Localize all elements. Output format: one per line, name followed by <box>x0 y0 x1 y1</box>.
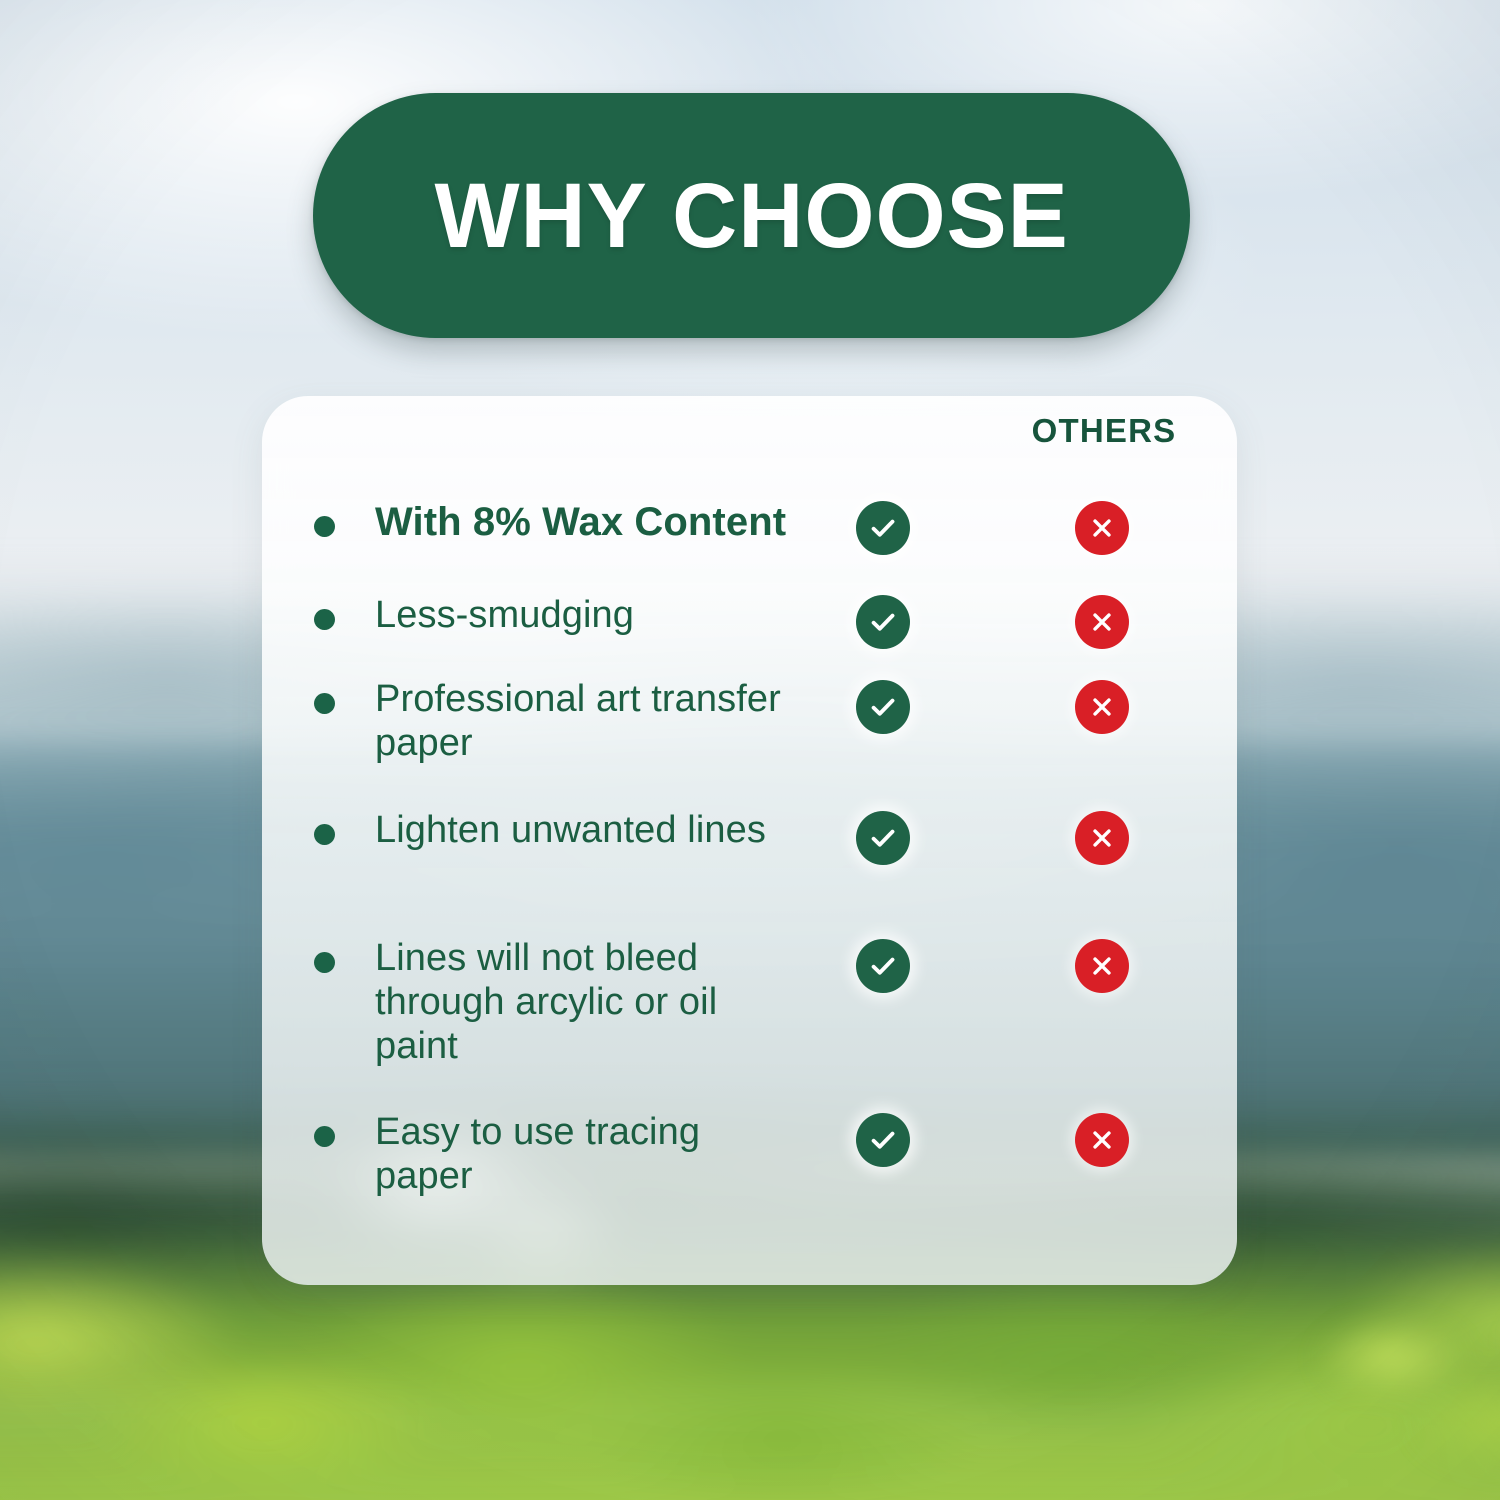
cross-circle-icon <box>1075 595 1129 649</box>
poster-canvas: WHY CHOOSE OTHERS With 8% Wax ContentLes… <box>0 0 1500 1500</box>
bullet-icon <box>314 609 335 630</box>
bullet-icon <box>314 693 335 714</box>
background-leaf-cluster <box>1290 1280 1500 1500</box>
bullet-icon <box>314 952 335 973</box>
bullet-icon <box>314 824 335 845</box>
feature-label: Professional art transfer paper <box>375 677 795 765</box>
feature-label: Lines will not bleed through arcylic or … <box>375 936 795 1068</box>
check-circle-icon <box>856 811 910 865</box>
bullet-icon <box>314 1126 335 1147</box>
feature-label: Easy to use tracing paper <box>375 1110 795 1198</box>
check-circle-icon <box>856 595 910 649</box>
cross-circle-icon <box>1075 939 1129 993</box>
check-circle-icon <box>856 680 910 734</box>
feature-row-list: With 8% Wax ContentLess-smudgingProfessi… <box>262 396 1237 1285</box>
cross-circle-icon <box>1075 501 1129 555</box>
cross-circle-icon <box>1075 811 1129 865</box>
check-circle-icon <box>856 1113 910 1167</box>
cross-circle-icon <box>1075 680 1129 734</box>
cross-circle-icon <box>1075 1113 1129 1167</box>
banner-title: WHY CHOOSE <box>434 170 1068 262</box>
bullet-icon <box>314 516 335 537</box>
feature-label: With 8% Wax Content <box>375 500 895 544</box>
check-circle-icon <box>856 501 910 555</box>
feature-label: Less-smudging <box>375 593 795 637</box>
check-circle-icon <box>856 939 910 993</box>
feature-label: Lighten unwanted lines <box>375 808 795 852</box>
why-choose-banner: WHY CHOOSE <box>313 93 1190 338</box>
